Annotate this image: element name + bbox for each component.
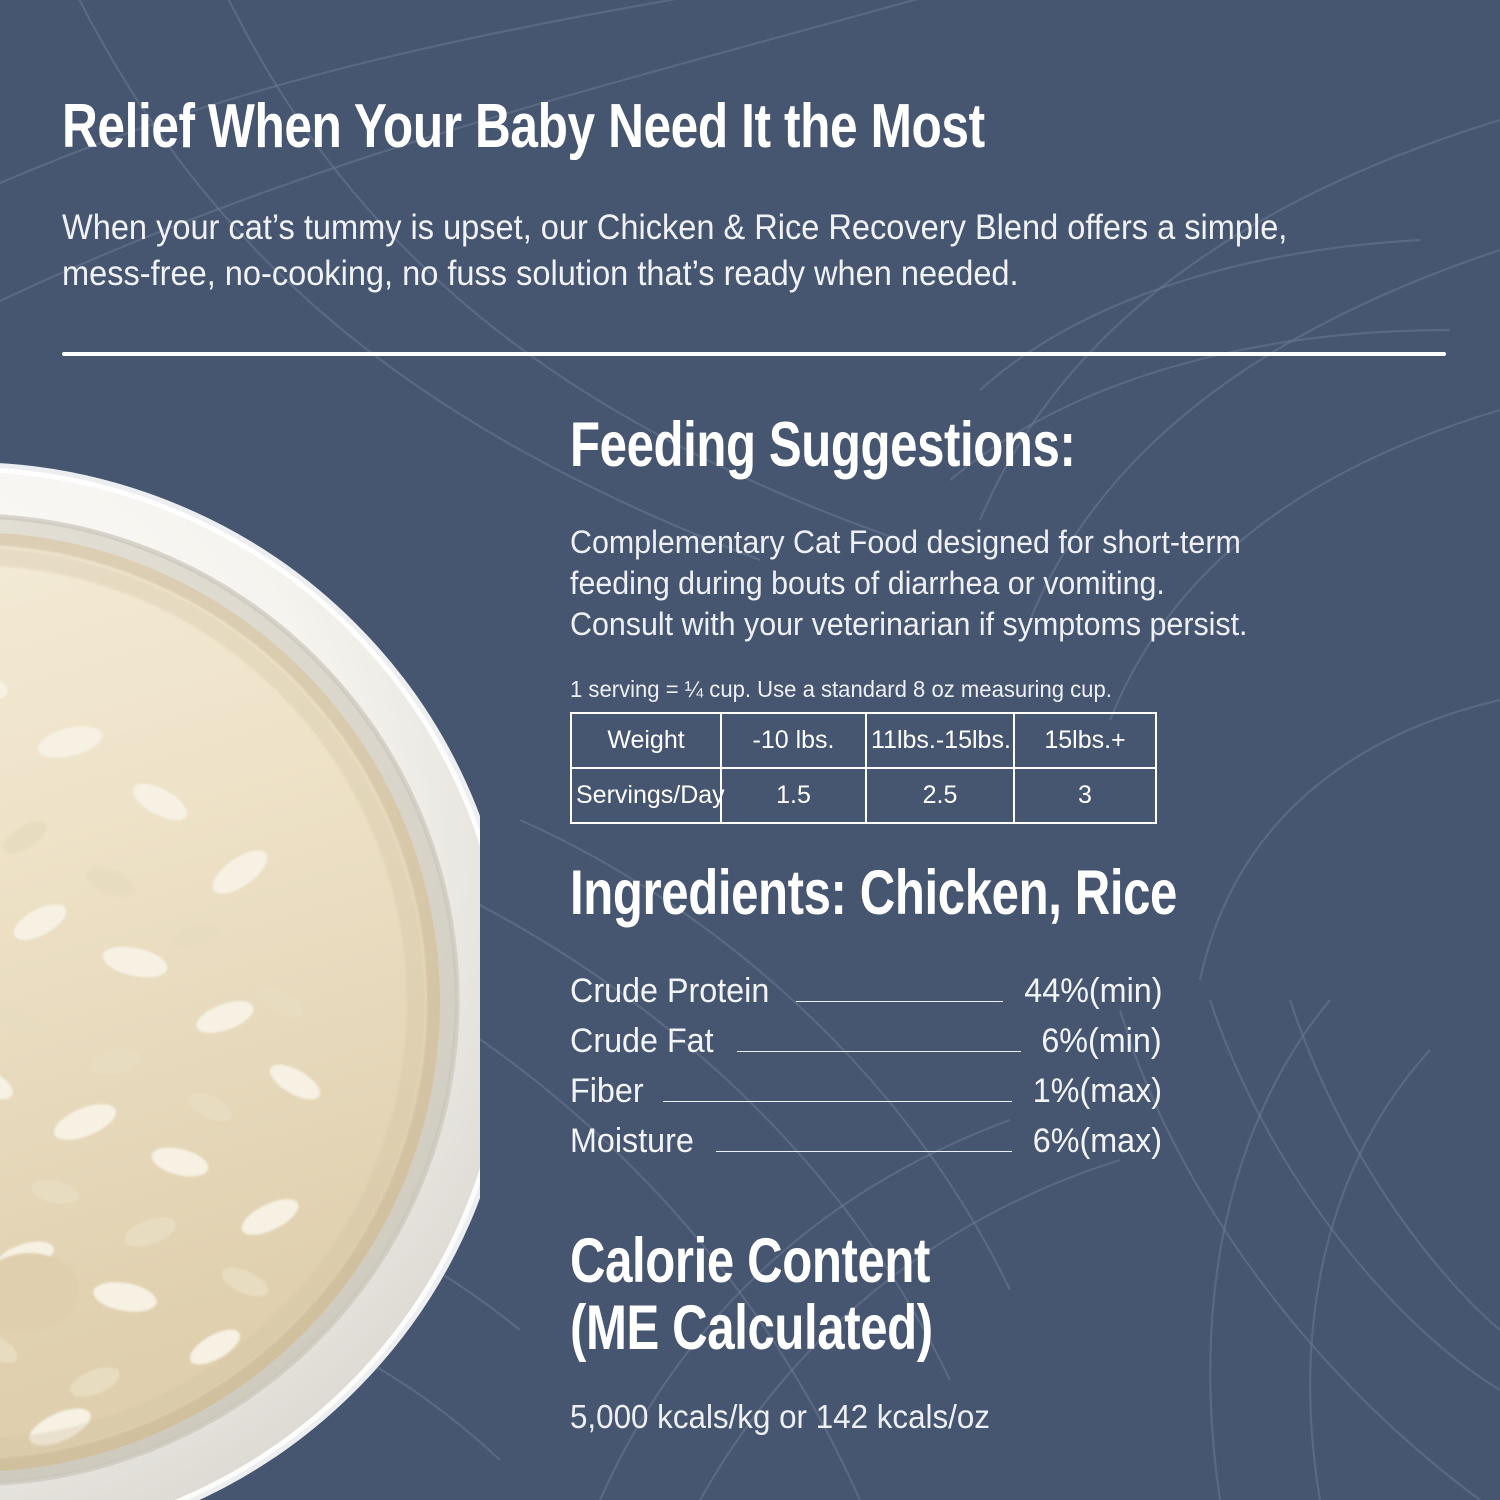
nutrient-label-crude-fat: Crude Fat	[570, 1022, 714, 1061]
leader-line	[737, 1051, 1021, 1052]
leader-line	[716, 1151, 1012, 1152]
list-item: Moisture 6%(max)	[570, 1122, 1162, 1172]
guaranteed-analysis-list: Crude Protein 44%(min) Crude Fat 6%(min)…	[570, 972, 1162, 1172]
servings-large: 3	[1014, 768, 1156, 823]
servings-medium: 2.5	[866, 768, 1014, 823]
nutrient-value-crude-protein: 44%(min)	[1024, 972, 1162, 1011]
nutrient-label-moisture: Moisture	[570, 1122, 694, 1161]
serving-size-note: 1 serving = ¼ cup. Use a standard 8 oz m…	[570, 676, 1112, 703]
nutrient-value-fiber: 1%(max)	[1033, 1072, 1162, 1111]
list-item: Crude Fat 6%(min)	[570, 1022, 1162, 1072]
calorie-content-heading: Calorie Content (ME Calculated)	[570, 1228, 1272, 1362]
list-item: Crude Protein 44%(min)	[570, 972, 1162, 1022]
nutrient-value-moisture: 6%(max)	[1033, 1122, 1162, 1161]
calorie-content-value: 5,000 kcals/kg or 142 kcals/oz	[570, 1396, 1425, 1438]
table-row: Weight -10 lbs. 11lbs.-15lbs. 15lbs.+	[571, 713, 1156, 768]
page-title: Relief When Your Baby Need It the Most	[62, 95, 1174, 158]
page-description: When your cat’s tummy is upset, our Chic…	[62, 205, 1308, 296]
leader-line	[663, 1101, 1012, 1102]
list-item: Fiber 1%(max)	[570, 1072, 1162, 1122]
ingredients-heading: Ingredients: Chicken, Rice	[570, 862, 1272, 925]
feeding-suggestions-description: Complementary Cat Food designed for shor…	[570, 522, 1425, 645]
section-divider	[62, 352, 1446, 356]
weight-range-small: -10 lbs.	[721, 713, 866, 768]
bowl-of-chicken-and-rice-photo	[0, 442, 480, 1500]
nutrient-value-crude-fat: 6%(min)	[1042, 1022, 1162, 1061]
leader-line	[796, 1001, 1003, 1002]
weight-range-medium: 11lbs.-15lbs.	[866, 713, 1014, 768]
row-header-weight: Weight	[571, 713, 721, 768]
table-row: Servings/Day 1.5 2.5 3	[571, 768, 1156, 823]
nutrient-label-crude-protein: Crude Protein	[570, 972, 769, 1011]
feeding-suggestions-heading: Feeding Suggestions:	[570, 414, 1272, 477]
servings-small: 1.5	[721, 768, 866, 823]
feeding-chart-table: Weight -10 lbs. 11lbs.-15lbs. 15lbs.+ Se…	[570, 712, 1157, 824]
product-infographic: Relief When Your Baby Need It the Most W…	[0, 0, 1500, 1500]
row-header-servings: Servings/Day	[571, 768, 721, 823]
nutrient-label-fiber: Fiber	[570, 1072, 644, 1111]
weight-range-large: 15lbs.+	[1014, 713, 1156, 768]
